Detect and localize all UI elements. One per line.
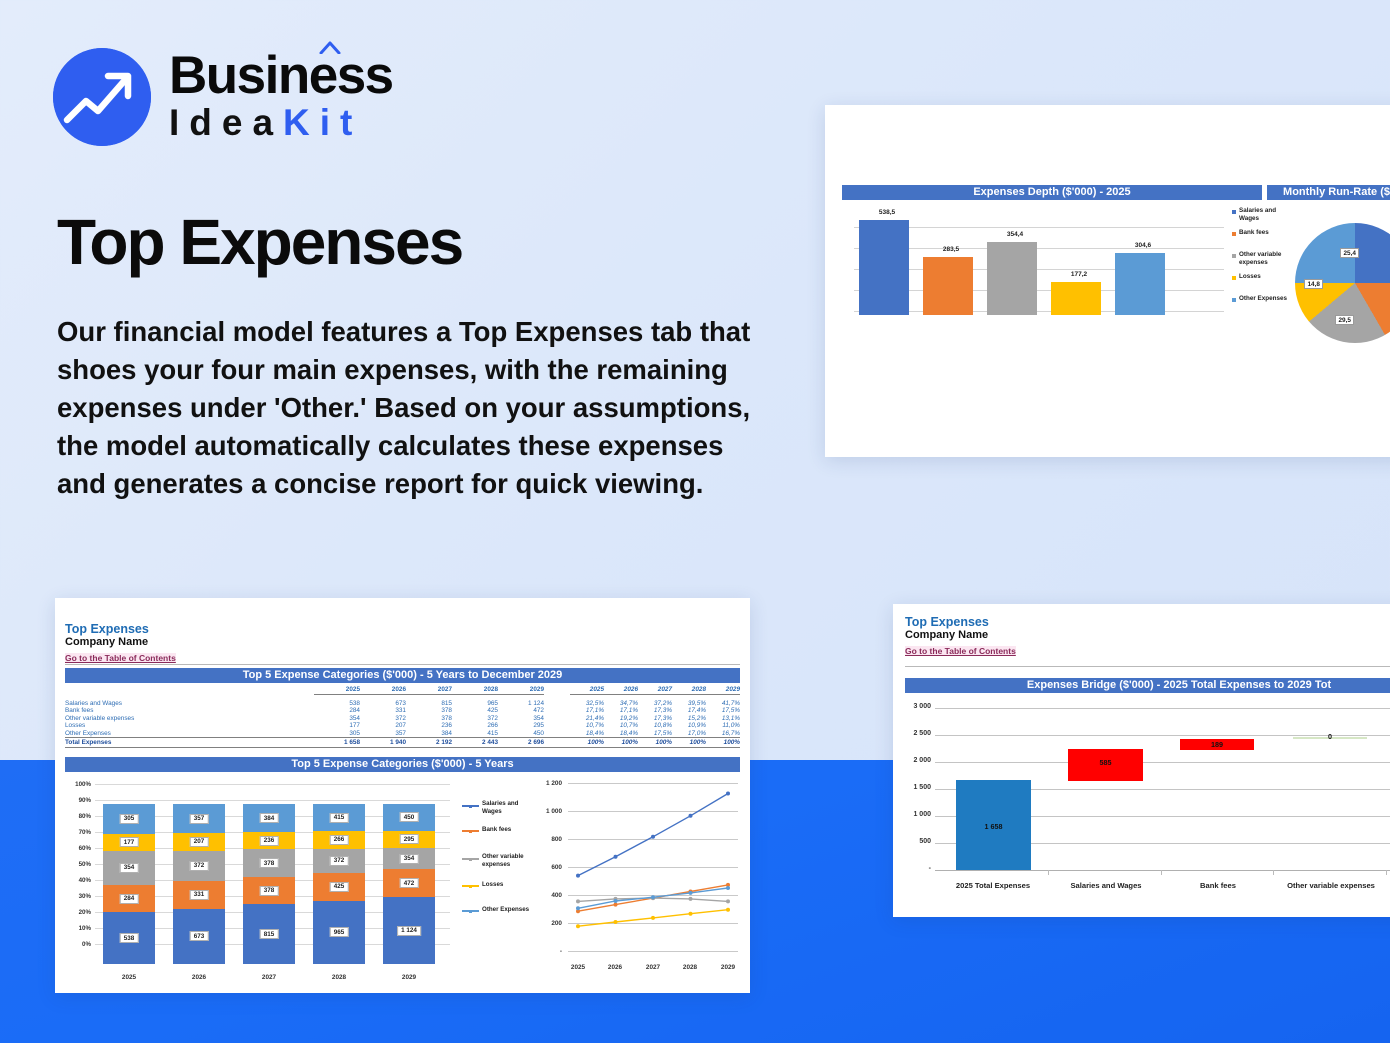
stack-2027: 384 236 378 378 815 — [243, 804, 295, 964]
xtick-2025-total: 2025 Total Expenses — [943, 881, 1043, 890]
bar-losses — [1051, 282, 1101, 315]
pct-col-2025: 2025 — [570, 686, 604, 695]
legend-label-bank-fees: Bank fees — [1239, 229, 1285, 237]
brand-kit-text: Kit — [283, 102, 362, 143]
ytick: - — [897, 865, 931, 872]
pie-label-other-variable: 29,5 — [1335, 315, 1354, 325]
pie-label-other-expenses: 25,4 — [1340, 248, 1359, 258]
gridline — [854, 311, 1224, 312]
xtick-salaries: Salaries and Wages — [1056, 881, 1156, 890]
xtick: 2026 — [173, 974, 225, 981]
gridline — [854, 290, 1224, 291]
brand-idea-text: Idea — [169, 102, 283, 143]
xtick: 2025 — [562, 964, 594, 971]
table-row: Losses 177 207 236 266 295 10,7% 10,7% 1… — [65, 722, 740, 730]
bar-bank-fees — [923, 257, 973, 315]
legend-swatch-losses — [1232, 276, 1236, 280]
expenses-depth-card: Expenses Depth ($'000) - 2025 Monthly Ru… — [825, 105, 1390, 457]
ytick: 90% — [65, 797, 91, 804]
ytick: 3 000 — [897, 703, 931, 710]
xtick: 2029 — [383, 974, 435, 981]
growth-arrow-icon — [53, 48, 151, 146]
divider — [905, 666, 1390, 667]
expenses-depth-chart: 538,5 283,5 354,4 177,2 304,6 Salaries a… — [842, 205, 1262, 315]
table-row: Other Expenses 305 357 384 415 450 18,4%… — [65, 730, 740, 738]
legend-label-other-variable: Other variable expenses — [1239, 251, 1285, 266]
bar-value-label: 283,5 — [920, 246, 982, 253]
pct-col-2029: 2029 — [706, 686, 740, 695]
stacked-categories-chart: 100% 90% 80% 70% 60% 50% 40% 30% 20% 10%… — [65, 778, 455, 986]
bar-value-salaries-delta: 585 — [1068, 758, 1143, 767]
ytick: 70% — [65, 829, 91, 836]
xtick-other-variable: Other variable expenses — [1271, 881, 1390, 890]
expense-table-header: Top 5 Expense Categories ($'000) - 5 Yea… — [65, 668, 740, 683]
xtick: 2027 — [243, 974, 295, 981]
monthly-run-rate-chart-header: Monthly Run-Rate ($'000 — [1267, 185, 1390, 200]
xtick: 2029 — [712, 964, 744, 971]
page-description: Our financial model features a Top Expen… — [57, 313, 757, 503]
stack-2029: 450 295 354 472 1 124 — [383, 804, 435, 964]
top-expense-categories-card: Top Expenses Company Name Go to the Tabl… — [55, 598, 750, 993]
legend-swatch-salaries — [1232, 210, 1236, 214]
bar-value-label: 177,2 — [1048, 271, 1110, 278]
brand-name-line1: Business — [169, 50, 393, 102]
gridline — [854, 269, 1224, 270]
bar-other-expenses — [1115, 253, 1165, 315]
col-2026: 2026 — [360, 686, 406, 695]
divider — [65, 664, 740, 665]
gridline — [854, 227, 1224, 228]
brand-name-line2: IdeaKit — [169, 102, 393, 145]
expenses-bridge-header: Expenses Bridge ($'000) - 2025 Total Exp… — [905, 678, 1390, 693]
brand-name-text: Business — [169, 46, 393, 105]
brand-logo: Business IdeaKit — [53, 48, 393, 146]
col-2027: 2027 — [406, 686, 452, 695]
table-total-row: Total Expenses 1 658 1 940 2 192 2 443 2… — [65, 738, 740, 747]
bar-salaries-and-wages — [859, 220, 909, 315]
legend-label-losses: Losses — [1239, 273, 1285, 281]
legend-label-other-expenses: Other Expenses — [1239, 295, 1291, 303]
legend-swatch-bank-fees — [1232, 232, 1236, 236]
col-2028: 2028 — [452, 686, 498, 695]
xtick: 2027 — [637, 964, 669, 971]
sheet-title: Top Expenses — [905, 615, 1016, 629]
sheet-header: Top Expenses Company Name Go to the Tabl… — [905, 615, 1016, 659]
bar-value-label: 304,6 — [1112, 242, 1174, 249]
ytick: 1 500 — [897, 784, 931, 791]
bar-value-label: 538,5 — [856, 209, 918, 216]
ytick: 80% — [65, 813, 91, 820]
ytick: 10% — [65, 925, 91, 932]
xtick: 2026 — [599, 964, 631, 971]
table-row: Other variable expenses 354 372 378 372 … — [65, 715, 740, 723]
ytick: 500 — [897, 838, 931, 845]
xtick: 2025 — [103, 974, 155, 981]
ytick: 2 000 — [897, 757, 931, 764]
expense-table: 2025 2026 2027 2028 2029 2025 2026 2027 … — [65, 686, 740, 748]
expenses-bridge-card: Top Expenses Company Name Go to the Tabl… — [893, 604, 1390, 917]
ytick: 40% — [65, 877, 91, 884]
legend-swatch-other-variable — [1232, 254, 1236, 258]
ytick: 20% — [65, 909, 91, 916]
sheet-header: Top Expenses Company Name Go to the Tabl… — [65, 622, 176, 666]
pct-col-2027: 2027 — [638, 686, 672, 695]
ytick: 50% — [65, 861, 91, 868]
ytick: 0% — [65, 941, 91, 948]
col-2029: 2029 — [498, 686, 544, 695]
ytick: 2 500 — [897, 730, 931, 737]
pct-col-2028: 2028 — [672, 686, 706, 695]
legend-swatch-other-expenses — [1232, 298, 1236, 302]
circumflex-accent-icon — [319, 41, 341, 54]
ytick: 1 000 — [897, 811, 931, 818]
ytick: 60% — [65, 845, 91, 852]
table-of-contents-link[interactable]: Go to the Table of Contents — [65, 653, 176, 663]
table-row: Salaries and Wages 538 673 815 965 1 124… — [65, 700, 740, 708]
ytick: 100% — [65, 781, 91, 788]
table-row: Bank fees 284 331 378 425 472 17,1% 17,1… — [65, 707, 740, 715]
sheet-company-name: Company Name — [905, 629, 1016, 641]
ytick: 30% — [65, 893, 91, 900]
bar-other-variable-expenses — [987, 242, 1037, 315]
col-2025: 2025 — [314, 686, 360, 695]
stack-2025: 305 177 354 284 538 — [103, 804, 155, 964]
table-of-contents-link[interactable]: Go to the Table of Contents — [905, 646, 1016, 656]
pct-col-2026: 2026 — [604, 686, 638, 695]
sheet-company-name: Company Name — [65, 636, 176, 648]
categories-line-chart: Salaries and Wages Bank fees Other varia… — [460, 778, 745, 986]
bar-value-bank-fees-delta: 189 — [1180, 740, 1254, 749]
bar-value-label: 354,4 — [984, 231, 1046, 238]
xtick: 2028 — [313, 974, 365, 981]
sheet-title: Top Expenses — [65, 622, 176, 636]
bar-value-other-variable-delta: 0 — [1293, 732, 1367, 741]
bar-value-2025-total: 1 658 — [956, 822, 1031, 831]
legend-label-salaries: Salaries and Wages — [1239, 207, 1285, 222]
line-series-plot — [460, 778, 745, 986]
expenses-depth-chart-header: Expenses Depth ($'000) - 2025 — [842, 185, 1262, 200]
xtick-bank-fees: Bank fees — [1168, 881, 1268, 890]
page-title: Top Expenses — [57, 205, 462, 279]
expenses-bridge-chart: 3 000 2 500 2 000 1 500 1 000 500 - 1 65… — [893, 698, 1390, 917]
xtick: 2028 — [674, 964, 706, 971]
stack-2026: 357 207 372 331 673 — [173, 804, 225, 964]
pie-label-losses: 14,8 — [1304, 279, 1323, 289]
table-header-row: 2025 2026 2027 2028 2029 2025 2026 2027 … — [65, 686, 740, 695]
stack-2028: 415 266 372 425 965 — [313, 804, 365, 964]
categories-chart-header: Top 5 Expense Categories ($'000) - 5 Yea… — [65, 757, 740, 772]
